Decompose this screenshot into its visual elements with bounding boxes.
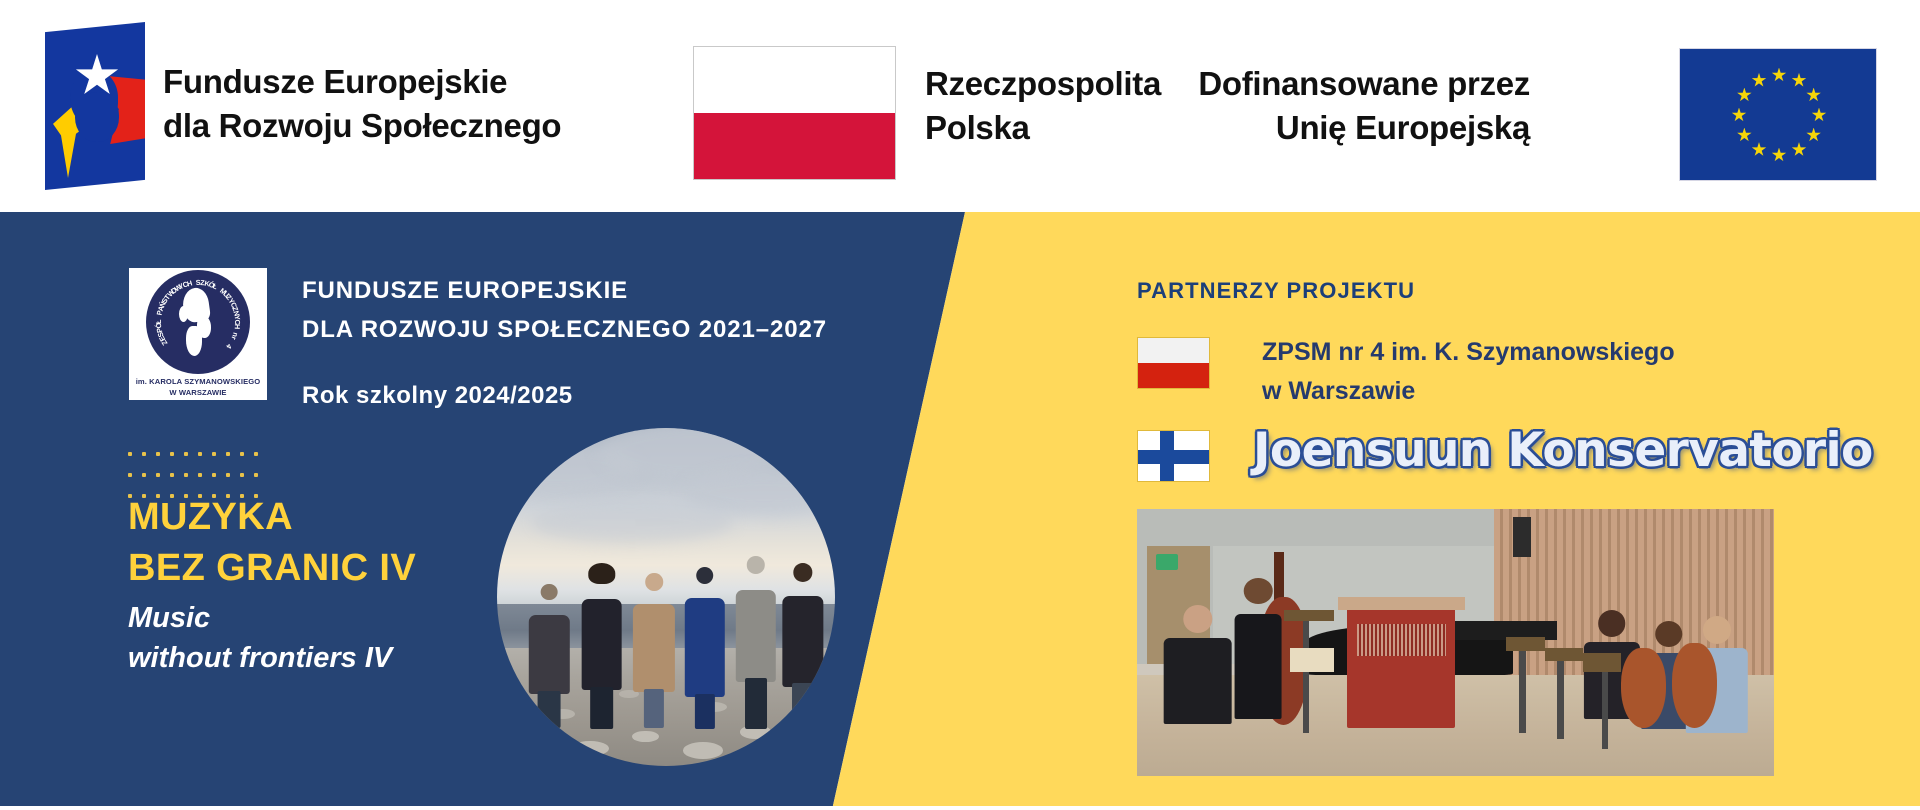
decorative-dot xyxy=(156,473,160,477)
finnish-flag-icon xyxy=(1137,430,1210,482)
decorative-dot xyxy=(142,473,146,477)
concert-rehearsal-photo xyxy=(1137,509,1774,776)
decorative-dot xyxy=(170,452,174,456)
decorative-dot xyxy=(254,473,258,477)
european-union-flag-icon xyxy=(1679,48,1877,181)
fundusze-europejskie-label: Fundusze Europejskie dla Rozwoju Społecz… xyxy=(163,60,561,147)
eu-star-icon xyxy=(1806,88,1821,103)
decorative-dot xyxy=(128,452,132,456)
project-title-en: Music without frontiers IV xyxy=(128,598,392,678)
school-year-label: Rok szkolny 2024/2025 xyxy=(302,382,573,410)
decorative-dot xyxy=(226,473,230,477)
decorative-dot xyxy=(226,452,230,456)
decorative-dot xyxy=(254,452,258,456)
rzeczpospolita-polska-label: Rzeczpospolita Polska xyxy=(925,62,1161,149)
eu-star-icon xyxy=(1812,108,1827,123)
eu-star-icon xyxy=(1752,73,1767,88)
polish-flag-icon xyxy=(693,46,896,180)
fundusze-europejskie-logo-icon xyxy=(45,22,145,190)
school-emblem-logo: ZESPÓŁ PAŃSTWOWYCH SZKÓŁ MUZYCZNYCH nr 4… xyxy=(129,268,267,400)
decorative-dot xyxy=(184,452,188,456)
eu-star-icon xyxy=(1752,142,1767,157)
partner-name-zpsm: ZPSM nr 4 im. K. Szymanowskiego w Warsza… xyxy=(1262,333,1675,411)
decorative-dot xyxy=(156,452,160,456)
partners-heading: PARTNERZY PROJEKTU xyxy=(1137,278,1415,304)
partner-name-joensuu: Joensuun Konservatorio xyxy=(1253,423,1873,478)
eu-star-icon xyxy=(1772,148,1787,163)
school-emblem-subtitle: im. KAROLA SZYMANOWSKIEGO W WARSZAWIE xyxy=(136,377,261,397)
eu-star-icon xyxy=(1772,68,1787,83)
eu-star-icon xyxy=(1792,73,1807,88)
students-group-photo xyxy=(497,428,835,766)
decorative-dot xyxy=(142,452,146,456)
eu-star-icon xyxy=(1792,142,1807,157)
decorative-dot xyxy=(184,473,188,477)
decorative-dot xyxy=(128,473,132,477)
eu-star-icon xyxy=(1737,88,1752,103)
decorative-dot xyxy=(170,473,174,477)
eu-funding-logo-bar: Fundusze Europejskie dla Rozwoju Społecz… xyxy=(0,0,1920,212)
dofinansowane-przez-ue-label: Dofinansowane przez Unię Europejską xyxy=(1198,62,1530,149)
decorative-dot xyxy=(212,452,216,456)
decorative-dot xyxy=(198,452,202,456)
decorative-dot xyxy=(198,473,202,477)
decorative-dot xyxy=(240,452,244,456)
poster-page: Fundusze Europejskie dla Rozwoju Społecz… xyxy=(0,0,1920,810)
eu-star-icon xyxy=(1732,108,1747,123)
decorative-dot xyxy=(240,473,244,477)
project-title-pl: MUZYKA BEZ GRANIC IV xyxy=(128,492,416,593)
programme-name-label: FUNDUSZE EUROPEJSKIE DLA ROZWOJU SPOŁECZ… xyxy=(302,272,827,350)
polish-flag-icon-partner xyxy=(1137,337,1210,389)
eu-star-icon xyxy=(1806,128,1821,143)
eu-star-icon xyxy=(1737,128,1752,143)
decorative-dot xyxy=(212,473,216,477)
bottom-edge xyxy=(0,806,1920,810)
